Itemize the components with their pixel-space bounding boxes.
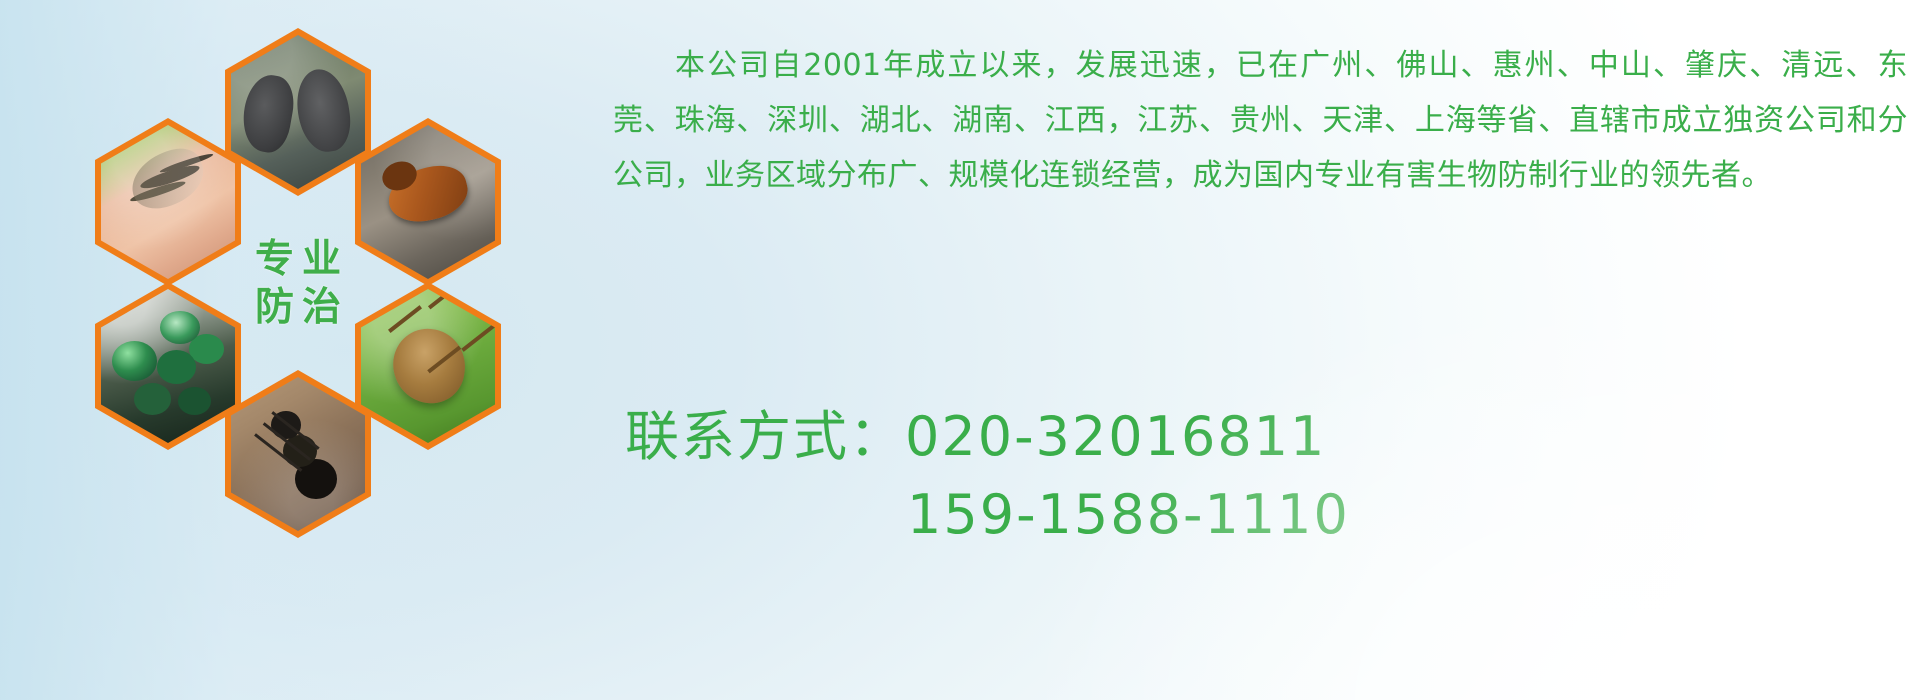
contact-block: 联系方式：020-32016811 159-1588-1110 (625, 398, 1825, 554)
hex-cell-mosquito (95, 118, 241, 286)
hex-cell-ant (225, 370, 371, 538)
label-line-control: 防治 (247, 287, 349, 329)
company-intro-paragraph: 本公司自2001年成立以来，发展迅速，已在广州、佛山、惠州、中山、肇庆、清远、东… (613, 38, 1908, 203)
hex-cell-roach (355, 118, 501, 286)
hex-photo-frame (361, 125, 495, 279)
contact-label: 联系方式： (625, 405, 905, 468)
hex-cell-stinkbug (355, 282, 501, 450)
contact-phone-secondary[interactable]: 159-1588-1110 (625, 476, 1825, 554)
stinkbug-photo (361, 289, 495, 443)
label-line-professional: 专业 (247, 239, 349, 281)
hex-photo-frame (101, 125, 235, 279)
company-intro-block: 本公司自2001年成立以来，发展迅速，已在广州、佛山、惠州、中山、肇庆、清远、东… (613, 38, 1908, 203)
honeycomb-center-label: 专业 防治 (225, 200, 371, 368)
honeycomb-gallery: 专业 防治 (95, 10, 585, 570)
hex-photo-frame (231, 377, 365, 531)
hex-photo-frame (361, 289, 495, 443)
hex-cell-flies (95, 282, 241, 450)
contact-phone-primary[interactable]: 020-32016811 (905, 405, 1326, 468)
flies-photo (101, 289, 235, 443)
rats-photo (231, 35, 365, 189)
hex-photo-frame (101, 289, 235, 443)
hex-photo-frame (231, 35, 365, 189)
roach-photo (361, 125, 495, 279)
hex-cell-rats (225, 28, 371, 196)
ant-photo (231, 377, 365, 531)
mosquito-photo (101, 125, 235, 279)
promo-banner: 专业 防治 本公司自2001年成立以来，发展迅速，已在广州、佛山、惠州、中山、肇… (0, 0, 1920, 700)
